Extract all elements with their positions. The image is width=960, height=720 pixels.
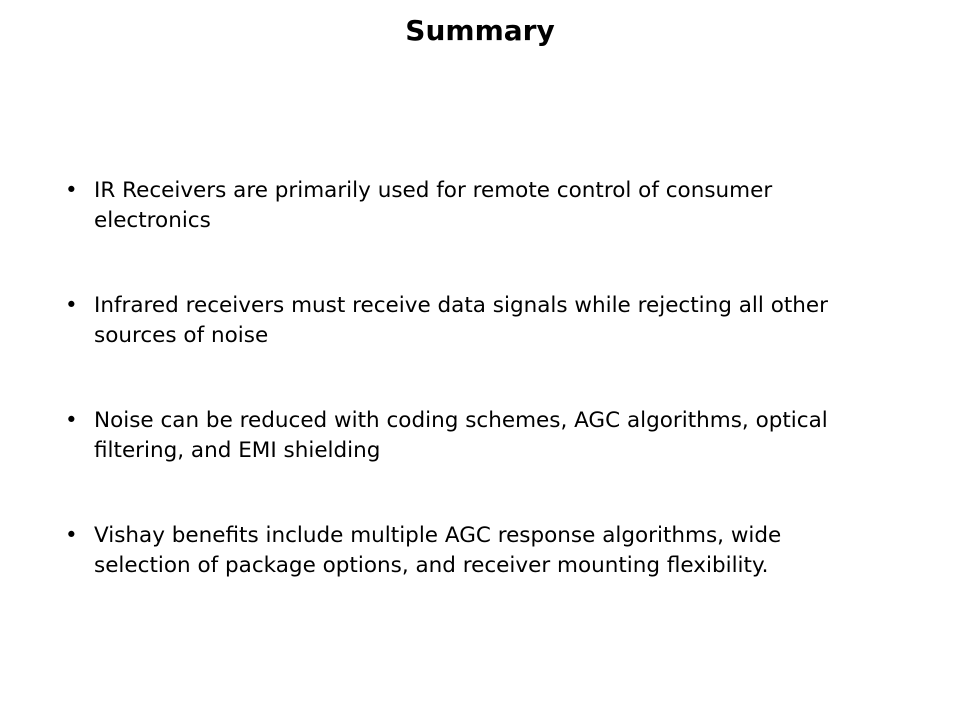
list-item: • Noise can be reduced with coding schem… <box>62 406 874 466</box>
list-item: • Vishay benefits include multiple AGC r… <box>62 521 874 581</box>
bullet-list: • IR Receivers are primarily used for re… <box>62 176 874 581</box>
bullet-point-icon: • <box>65 521 85 551</box>
bullet-text: Infrared receivers must receive data sig… <box>94 291 874 351</box>
bullet-text: Vishay benefits include multiple AGC res… <box>94 521 874 581</box>
bullet-point-icon: • <box>65 176 85 206</box>
list-item: • IR Receivers are primarily used for re… <box>62 176 874 236</box>
presentation-slide: Summary • IR Receivers are primarily use… <box>0 0 960 720</box>
bullet-text: Noise can be reduced with coding schemes… <box>94 406 874 466</box>
slide-title: Summary <box>0 14 960 48</box>
bullet-text: IR Receivers are primarily used for remo… <box>94 176 874 236</box>
bullet-point-icon: • <box>65 406 85 436</box>
bullet-point-icon: • <box>65 291 85 321</box>
list-item: • Infrared receivers must receive data s… <box>62 291 874 351</box>
